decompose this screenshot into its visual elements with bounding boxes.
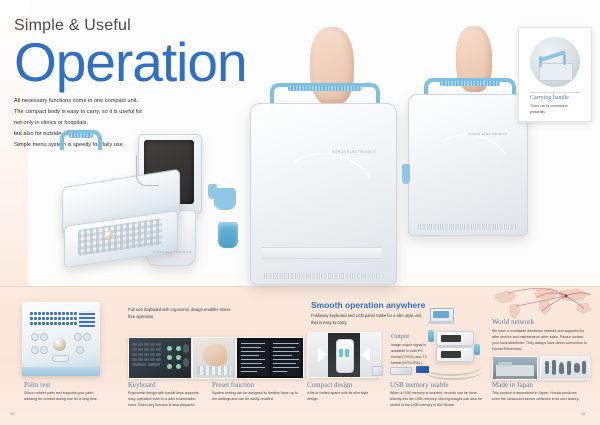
thumbnail-backlit-keyboard — [128, 337, 192, 379]
probe-holder-right — [402, 164, 410, 184]
carrying-handle-card-title: Carrying handle — [530, 95, 569, 101]
vent-grille-center — [264, 273, 380, 279]
palm-rest-pad — [22, 367, 100, 376]
carrying-handle-card: Carrying handle Turns out for convenient… — [518, 27, 592, 122]
smooth-section-body: Foldaway keyboard and LCD panel make for… — [311, 312, 423, 326]
output-device-screen-top — [441, 335, 461, 342]
panel-button-b — [40, 333, 48, 341]
arrow-left-icon — [318, 348, 327, 362]
panel-button-a — [31, 333, 39, 341]
device-brandmark: KORUS ELECTRONICS — [152, 250, 192, 254]
smooth-section-title: Smooth operation anywhere — [311, 300, 425, 310]
caption-title-preset-function: Preset function — [212, 381, 254, 389]
caption-body-made-in-japan: This product is assembled in Japan. Hond… — [492, 390, 584, 402]
arrow-right-icon — [361, 348, 370, 362]
output-probe-icon — [428, 330, 434, 342]
thumbnail-hand-on-panel — [192, 337, 236, 379]
caption-body-preset-function: System setting can be assigned to functi… — [212, 390, 300, 402]
panel-button-c — [74, 333, 82, 341]
caption-title-keyboard: Keyboard — [128, 381, 156, 389]
gel-bottle-cup — [218, 222, 238, 248]
control-panel-illustration — [22, 302, 100, 376]
probe-holder-pair — [214, 188, 236, 210]
panel-key-row-3 — [30, 322, 77, 325]
thumbnail-probes — [540, 356, 590, 380]
panel-freeze-key — [52, 355, 69, 362]
caption-title-palm-rest: Palm rest — [24, 381, 50, 389]
palm-rest-photo — [22, 302, 100, 376]
output-probe-icon-2 — [474, 344, 480, 355]
panel-button-d — [83, 333, 91, 341]
device-closed-unit-center: KORUS ELECTRONICS — [250, 95, 395, 290]
intro-line-3: not only in clinics or hospitals, — [14, 118, 189, 129]
panel-button-f — [40, 346, 48, 354]
thumbnail-compact-design — [307, 332, 381, 378]
page-title-block: Simple & Useful Operation — [14, 18, 247, 88]
backlit-keyboard-photo — [129, 338, 191, 378]
caption-title-usb-memory: USB memory usable — [390, 381, 448, 389]
panel-trackball — [53, 338, 66, 351]
output-callout-title: Output — [391, 333, 409, 340]
panel-key-row-2 — [30, 317, 77, 320]
caption-title-compact-design: Compact design — [307, 381, 352, 389]
device-closed-unit-right: KORUS ELECTRONICS — [408, 88, 526, 238]
unit-illustration-body — [539, 63, 573, 81]
handle-illustration-post-2 — [563, 54, 566, 65]
page-number-left: 06 — [10, 411, 14, 416]
carrying-handle-photo — [530, 37, 580, 87]
thumbnail-factory — [492, 356, 538, 380]
output-cable-2 — [424, 362, 482, 380]
panel-key-row-1 — [30, 312, 77, 315]
page-number-right: 06 — [581, 411, 585, 416]
caption-body-palm-rest: Silicon rubber palm rest supports your p… — [24, 390, 100, 402]
ultrasound-probes-photo — [541, 357, 589, 379]
factory-building-photo — [493, 357, 537, 379]
keyboard-note: Full size keyboard with ergonomic design… — [128, 306, 238, 320]
device-brandmark-center: KORUS ELECTRONICS — [332, 150, 376, 154]
world-network-body: We have a worldwide distributor network … — [492, 328, 588, 352]
intro-line-2: The compact body is easy to carry, so it… — [14, 107, 189, 118]
usb-memory-icon — [372, 366, 383, 376]
carrying-handle-left — [60, 130, 102, 150]
panel-button-e — [31, 346, 39, 354]
thumbnail-menu-screen — [236, 337, 304, 379]
vent-grille-right — [418, 224, 516, 230]
panel-slider-bank — [79, 311, 95, 327]
intro-line-1: All necessary functions come in one comp… — [14, 96, 189, 107]
hand-on-panel-photo — [193, 338, 235, 378]
page-title: Operation — [14, 36, 247, 88]
device-brandmark-right: KORUS ELECTRONICS — [468, 132, 508, 136]
card-divider — [530, 92, 580, 93]
panel-button-g — [76, 346, 84, 354]
slim-unit-icon — [428, 308, 454, 326]
menu-screen-photo — [237, 338, 303, 378]
caption-body-usb-memory: When a USB memory is inserted, records c… — [390, 390, 482, 408]
world-network-title: World network — [492, 318, 534, 326]
caption-title-made-in-japan: Made in Japan — [492, 381, 533, 389]
handle-illustration-post — [539, 56, 542, 67]
brochure-page: Simple & Useful Operation All necessary … — [0, 0, 600, 425]
vga-connector-icon — [416, 366, 429, 373]
caption-body-keyboard: Ergonomic design with backlit keys suppo… — [128, 390, 200, 408]
carrying-handle-card-body: Turns out for convenient portability. — [530, 104, 574, 116]
probe-hook — [136, 155, 159, 186]
headquarters-marker — [564, 294, 567, 297]
caption-body-compact-design: It fits in limited space with its slim s… — [307, 390, 369, 402]
output-device-stack-top — [436, 331, 474, 346]
front-panel-seam — [262, 247, 382, 259]
slim-unit-photo — [308, 333, 380, 377]
usb-stick-icon — [390, 367, 412, 375]
